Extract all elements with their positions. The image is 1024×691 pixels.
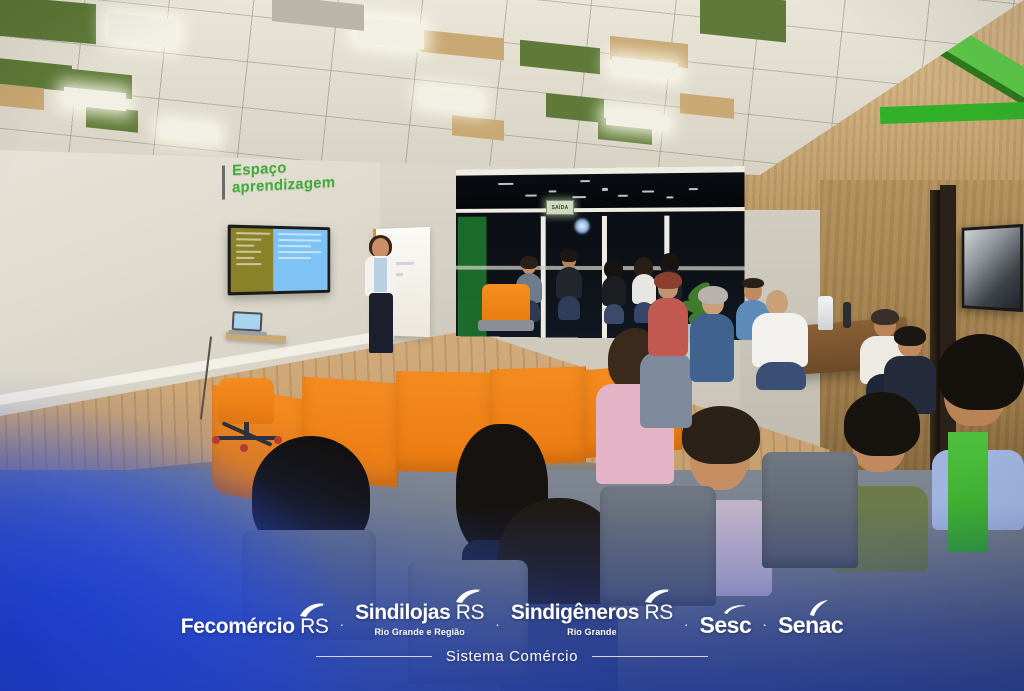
logo-sindilojas-rs: Sindilojas RS Rio Grande e Região: [355, 602, 484, 637]
wall-graphic-espaco-aprendizagem: Espaço aprendizagem: [232, 157, 352, 197]
audience-person: [690, 290, 734, 382]
green-panel: [948, 432, 988, 552]
slide-text-line: [236, 251, 262, 253]
audience-person: [648, 276, 688, 356]
chair-caster: [240, 444, 248, 452]
slide-text-line: [236, 257, 254, 259]
logo-wordmark: Sindilojas RS: [355, 602, 484, 623]
framed-artwork: [962, 224, 1023, 312]
senac-bird-icon: [807, 600, 829, 616]
slide-text-line: [278, 257, 311, 259]
ceiling-tile-tan: [0, 84, 44, 111]
audience-chair: [762, 452, 858, 568]
sesc-swoosh-icon: [723, 604, 747, 615]
tagline-row: Sistema Comércio: [316, 648, 708, 665]
tagline-rule-right: [592, 656, 708, 657]
tagline: Sistema Comércio: [446, 648, 578, 665]
swoosh-icon: [454, 589, 482, 604]
laptop-base: [228, 330, 266, 336]
presenter-trousers: [369, 293, 393, 353]
slide-text-line: [278, 233, 321, 236]
logo-separator: ·: [762, 616, 767, 637]
orange-swivel-chair: [218, 378, 274, 440]
logo-subtitle: Rio Grande e Região: [374, 627, 464, 637]
logo-wordmark: Fecomércio RS: [181, 616, 329, 637]
chair-caster: [212, 436, 220, 444]
laptop: [231, 311, 266, 337]
exit-sign: SAÍDA: [546, 200, 574, 215]
swoosh-icon: [643, 589, 671, 604]
photo-banner: Espaço aprendizagem: [0, 0, 1024, 691]
logo-separator: ·: [495, 616, 500, 637]
logo-subtitle: Rio Grande: [567, 627, 617, 637]
thermos: [818, 296, 833, 330]
swivel-backrest: [218, 378, 274, 424]
laptop-screen: [232, 311, 263, 332]
presenter-shirt: [374, 258, 387, 292]
window-transom: [456, 172, 745, 213]
slide-text-line: [236, 238, 262, 240]
slide-right-panel: [273, 229, 327, 291]
armchair-seat: [478, 320, 534, 331]
moon: [574, 218, 590, 234]
presenter: [358, 238, 404, 354]
wall-graphic-bar: [222, 166, 225, 200]
orange-armchair: [482, 284, 530, 322]
logo-senac: Senac: [778, 614, 843, 637]
presentation-screen: [228, 225, 331, 296]
slide-text-line: [236, 244, 254, 246]
logo-wordmark: Senac: [778, 614, 843, 637]
audience-person: [752, 290, 808, 386]
slide-left-panel: [231, 228, 273, 292]
audience-person: [556, 252, 582, 318]
tagline-rule-left: [316, 656, 432, 657]
logo-wordmark: Sindigêneros RS: [511, 602, 673, 623]
presenter-head: [372, 238, 389, 258]
slide-text-line: [236, 232, 270, 235]
logo-separator: ·: [684, 616, 689, 637]
logo-wordmark: Sesc: [700, 614, 752, 637]
brand-footer: Fecomércio RS · Sindilojas RS Rio Grande…: [0, 571, 1024, 691]
slide-text-line: [278, 251, 321, 253]
water-bottle: [843, 302, 851, 328]
logo-sindigeneros-rs: Sindigêneros RS Rio Grande: [511, 602, 673, 637]
swoosh-icon: [298, 603, 326, 618]
audience-person: [602, 262, 626, 322]
window-rail: [456, 266, 745, 271]
logo-row: Fecomércio RS · Sindilojas RS Rio Grande…: [181, 602, 843, 637]
logo-fecomercio-rs: Fecomércio RS: [181, 616, 329, 637]
slide-text-line: [278, 245, 311, 247]
slide-text-line: [278, 239, 321, 242]
slide-text-line: [236, 263, 262, 265]
logo-sesc: Sesc: [700, 614, 752, 637]
logo-separator: ·: [339, 616, 344, 637]
